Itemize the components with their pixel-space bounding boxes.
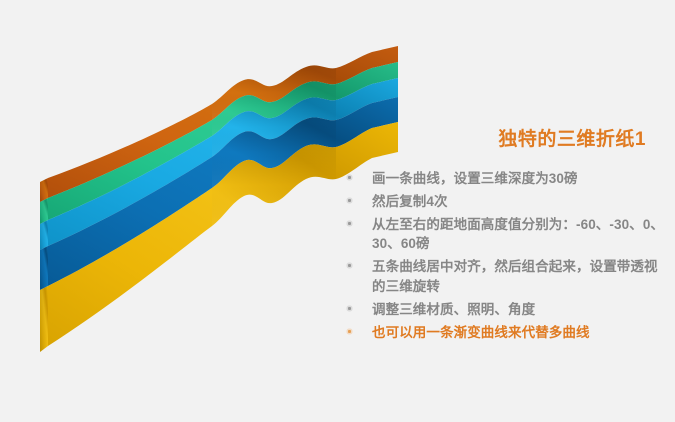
list-item-label: 调整三维材质、照明、角度 <box>372 302 535 317</box>
list-item-label: 画一条曲线，设置三维深度为30磅 <box>372 171 578 186</box>
bullet-list: 画一条曲线，设置三维深度为30磅 然后复制4次 从左至右的距地面高度值分别为：-… <box>340 169 670 342</box>
list-item: 五条曲线居中对齐，然后组合起来，设置带透视的三维旋转 <box>340 257 670 295</box>
list-item-highlighted: 也可以用一条渐变曲线来代替多曲线 <box>340 323 670 342</box>
list-item: 从左至右的距地面高度值分别为：-60、-30、0、30、60磅 <box>340 215 670 253</box>
list-item-label: 从左至右的距地面高度值分别为：-60、-30、0、30、60磅 <box>372 217 664 251</box>
slide-canvas: 独特的三维折纸1 画一条曲线，设置三维深度为30磅 然后复制4次 从左至右的距地… <box>0 0 675 422</box>
content-text-column: 独特的三维折纸1 画一条曲线，设置三维深度为30磅 然后复制4次 从左至右的距地… <box>340 128 670 346</box>
bullet-dot-icon <box>348 222 351 225</box>
page-title: 独特的三维折纸1 <box>340 128 670 152</box>
list-item-label: 也可以用一条渐变曲线来代替多曲线 <box>372 325 590 340</box>
list-item-label: 五条曲线居中对齐，然后组合起来，设置带透视的三维旋转 <box>372 259 658 293</box>
list-item: 画一条曲线，设置三维深度为30磅 <box>340 169 670 188</box>
bullet-dot-icon <box>348 307 351 310</box>
ribbon-left-edge <box>40 178 48 352</box>
bullet-dot-icon <box>348 264 351 267</box>
bullet-dot-icon <box>348 330 351 333</box>
bullet-dot-icon <box>348 176 351 179</box>
list-item-label: 然后复制4次 <box>372 194 448 209</box>
list-item: 然后复制4次 <box>340 192 670 211</box>
list-item: 调整三维材质、照明、角度 <box>340 300 670 319</box>
bullet-dot-icon <box>348 199 351 202</box>
